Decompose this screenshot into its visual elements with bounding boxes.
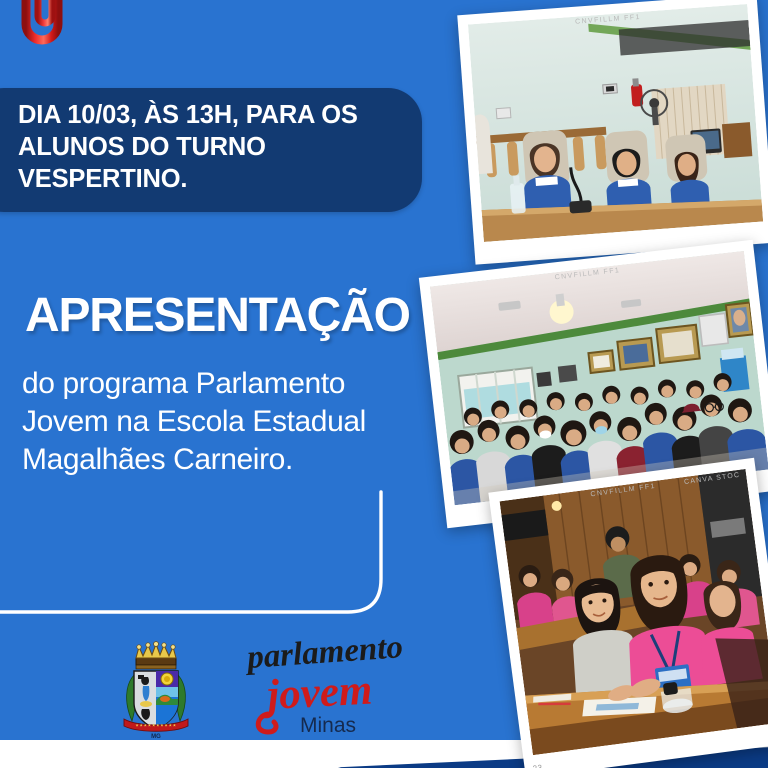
brasao-ribbon-state: MG xyxy=(151,734,161,740)
brasao-municipal-icon: ★★★★★★★★★★ MG xyxy=(112,641,200,741)
date-banner-text: DIA 10/03, ÀS 13H, PARA OS ALUNOS DO TUR… xyxy=(18,100,408,196)
paperclip-icon xyxy=(16,0,80,76)
logo-word-jovem: jovem xyxy=(260,667,373,720)
poster-canvas: DIA 10/03, ÀS 13H, PARA OS ALUNOS DO TUR… xyxy=(0,0,768,768)
photo-pink-shirts: CNVFILLM FF1 CANVA STOC 23 xyxy=(488,458,768,768)
parlamento-jovem-logo: parlamento jovem Minas xyxy=(246,636,436,742)
white-curve-line xyxy=(0,480,420,625)
svg-text:jovem: jovem xyxy=(260,667,373,720)
logo-word-minas: Minas xyxy=(300,714,356,737)
page-title: APRESENTAÇÃO xyxy=(25,288,410,343)
photo-page-number: 23 xyxy=(532,763,543,768)
date-banner: DIA 10/03, ÀS 13H, PARA OS ALUNOS DO TUR… xyxy=(0,88,422,212)
photo-students-table: CNVFILLM FF1 xyxy=(457,0,768,265)
page-subtitle: do programa Parlamento Jovem na Escola E… xyxy=(22,365,432,479)
svg-text:★★★★★★★★★★: ★★★★★★★★★★ xyxy=(135,723,177,728)
